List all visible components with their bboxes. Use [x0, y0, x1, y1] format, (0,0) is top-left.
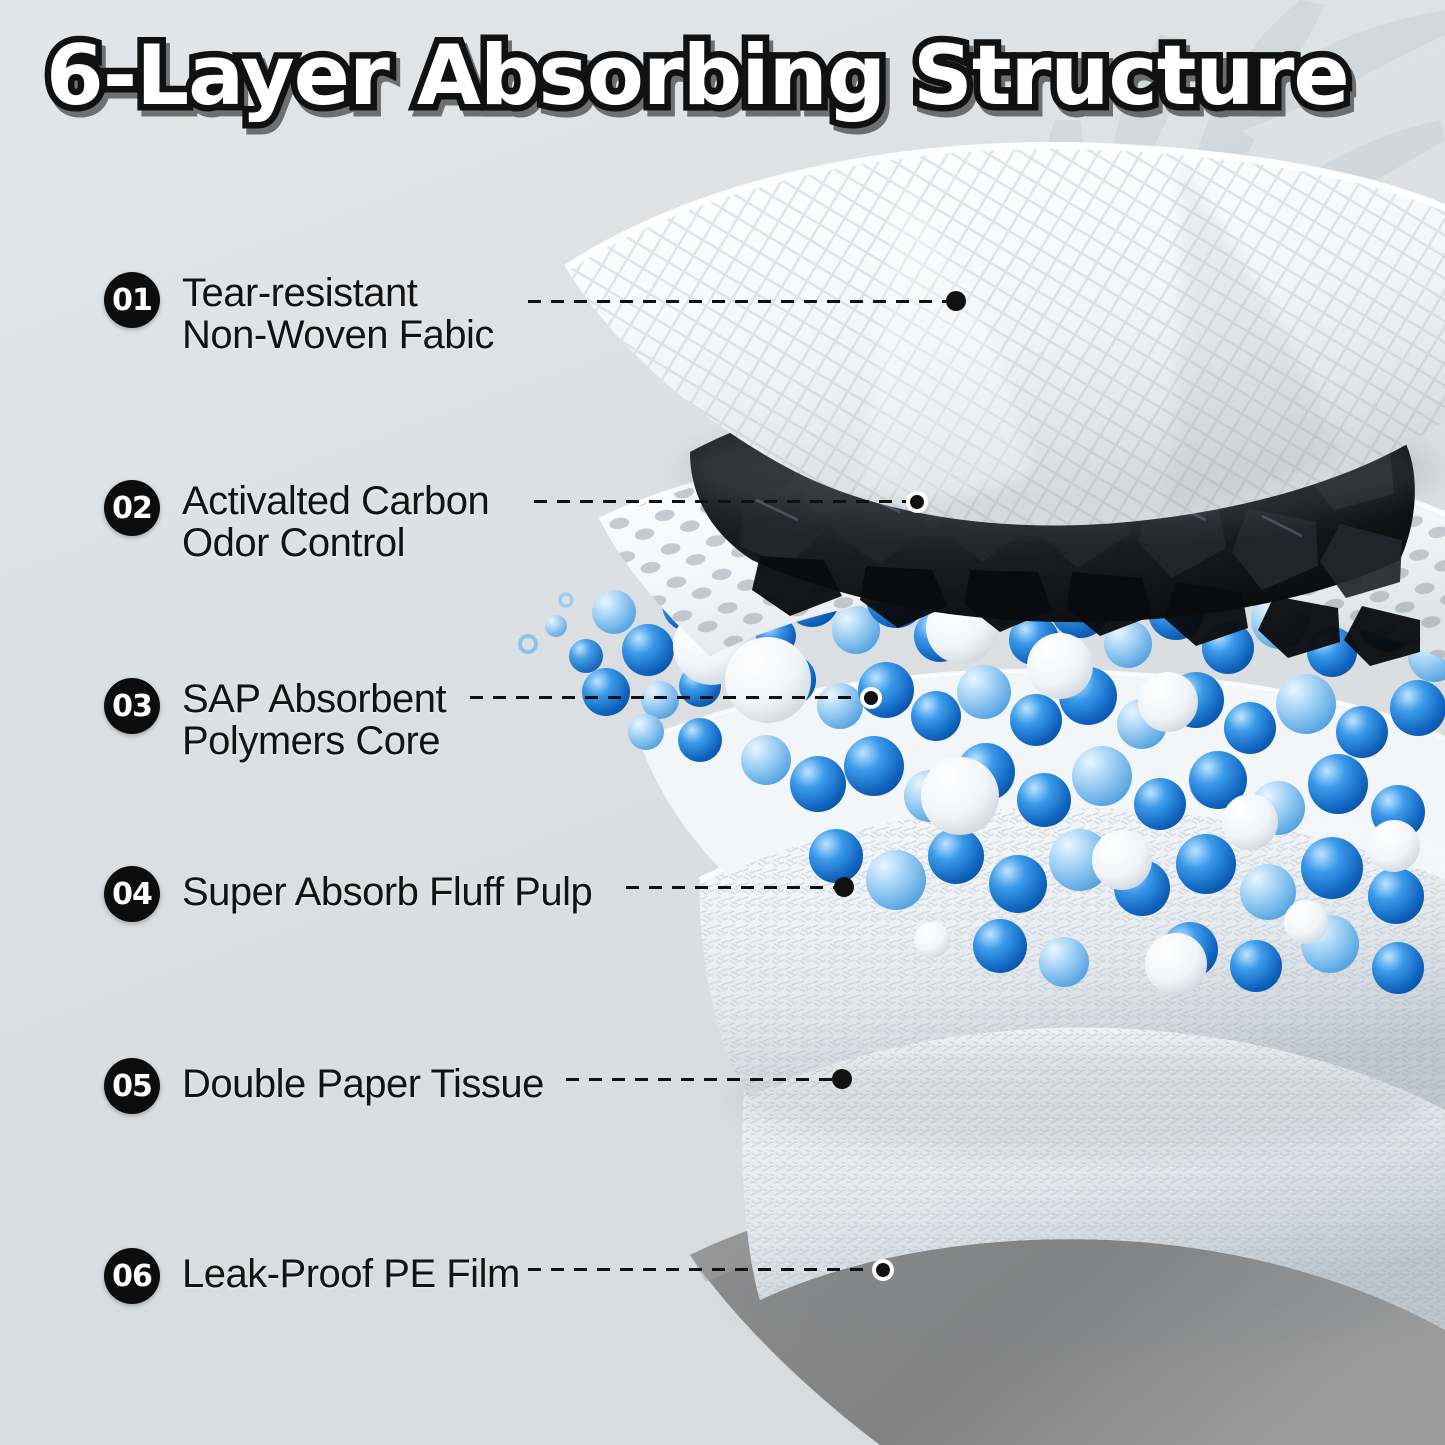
leader-dot-01 — [946, 291, 966, 311]
callout-03[interactable]: 03SAP Absorbent Polymers Core — [104, 678, 446, 763]
layer-badge-03: 03 — [104, 678, 160, 734]
leader-line-03 — [470, 696, 864, 699]
layer-label-05: Double Paper Tissue — [182, 1058, 544, 1105]
leader-dot-02 — [906, 491, 928, 513]
layer-label-01: Tear-resistant Non-Woven Fabic — [182, 272, 494, 357]
callout-02[interactable]: 02Activalted Carbon Odor Control — [104, 480, 489, 565]
leader-dot-04 — [834, 877, 854, 897]
layer-badge-05: 05 — [104, 1058, 160, 1114]
layer-badge-02: 02 — [104, 480, 160, 536]
callout-05[interactable]: 05Double Paper Tissue — [104, 1058, 544, 1114]
infographic-canvas: 6-Layer Absorbing Structure 6-Layer Abso… — [0, 0, 1445, 1445]
layer-label-04: Super Absorb Fluff Pulp — [182, 866, 592, 913]
leader-dot-03 — [860, 687, 882, 709]
leader-line-05 — [566, 1078, 836, 1081]
callout-01[interactable]: 01Tear-resistant Non-Woven Fabic — [104, 272, 494, 357]
leader-dot-06 — [872, 1259, 894, 1281]
callout-06[interactable]: 06Leak-Proof PE Film — [104, 1248, 520, 1304]
leader-line-04 — [626, 886, 838, 889]
layer-badge-04: 04 — [104, 866, 160, 922]
leader-line-01 — [528, 300, 946, 303]
callout-04[interactable]: 04Super Absorb Fluff Pulp — [104, 866, 592, 922]
leader-line-02 — [534, 500, 912, 503]
layer-label-02: Activalted Carbon Odor Control — [182, 480, 489, 565]
layer-label-03: SAP Absorbent Polymers Core — [182, 678, 446, 763]
leader-line-06 — [528, 1268, 876, 1271]
page-title: 6-Layer Absorbing Structure — [46, 34, 1349, 117]
leader-dot-05 — [832, 1069, 852, 1089]
layer-01-nonwoven-fabric — [566, 145, 1445, 530]
layer-badge-06: 06 — [104, 1248, 160, 1304]
layer-label-06: Leak-Proof PE Film — [182, 1248, 520, 1295]
layer-badge-01: 01 — [104, 272, 160, 328]
